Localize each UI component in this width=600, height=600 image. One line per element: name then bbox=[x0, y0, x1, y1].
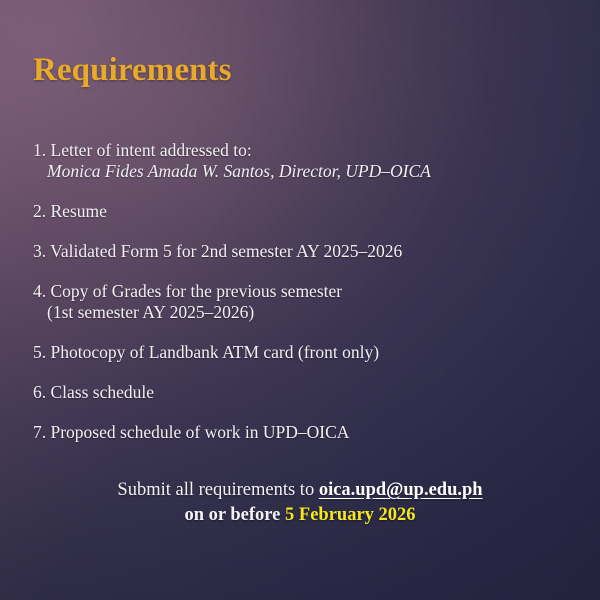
poster-content: Requirements 1. Letter of intent address… bbox=[0, 0, 600, 600]
list-item: 7. Proposed schedule of work in UPD–OICA bbox=[33, 422, 573, 443]
deadline-prefix-label: on or before bbox=[184, 505, 285, 525]
requirement-text-1: 1. Letter of intent addressed to: bbox=[33, 140, 573, 161]
page-title: Requirements bbox=[33, 52, 232, 88]
requirements-list: 1. Letter of intent addressed to: Monica… bbox=[33, 140, 573, 443]
requirement-subtext-4-semester: (1st semester AY 2025–2026) bbox=[33, 302, 573, 323]
list-item: 3. Validated Form 5 for 2nd semester AY … bbox=[33, 241, 573, 262]
requirement-text-6: 6. Class schedule bbox=[33, 382, 573, 403]
submission-email-link[interactable]: oica.upd@up.edu.ph bbox=[319, 480, 483, 500]
requirement-text-3: 3. Validated Form 5 for 2nd semester AY … bbox=[33, 241, 573, 262]
footer-line-submit: Submit all requirements to oica.upd@up.e… bbox=[0, 478, 600, 503]
submit-prefix-label: Submit all requirements to bbox=[117, 480, 318, 500]
list-item: 4. Copy of Grades for the previous semes… bbox=[33, 281, 573, 323]
list-item: 6. Class schedule bbox=[33, 382, 573, 403]
requirement-subtext-1-director: Monica Fides Amada W. Santos, Director, … bbox=[33, 161, 573, 182]
requirement-text-2: 2. Resume bbox=[33, 201, 573, 222]
footer-line-deadline: on or before 5 February 2026 bbox=[0, 503, 600, 528]
requirements-poster: Requirements 1. Letter of intent address… bbox=[0, 0, 600, 600]
footer-submission-info: Submit all requirements to oica.upd@up.e… bbox=[0, 478, 600, 528]
requirement-text-5: 5. Photocopy of Landbank ATM card (front… bbox=[33, 342, 573, 363]
requirement-text-4: 4. Copy of Grades for the previous semes… bbox=[33, 281, 573, 302]
list-item: 1. Letter of intent addressed to: Monica… bbox=[33, 140, 573, 182]
requirement-text-7: 7. Proposed schedule of work in UPD–OICA bbox=[33, 422, 573, 443]
list-item: 2. Resume bbox=[33, 201, 573, 222]
list-item: 5. Photocopy of Landbank ATM card (front… bbox=[33, 342, 573, 363]
deadline-date: 5 February 2026 bbox=[285, 505, 416, 525]
